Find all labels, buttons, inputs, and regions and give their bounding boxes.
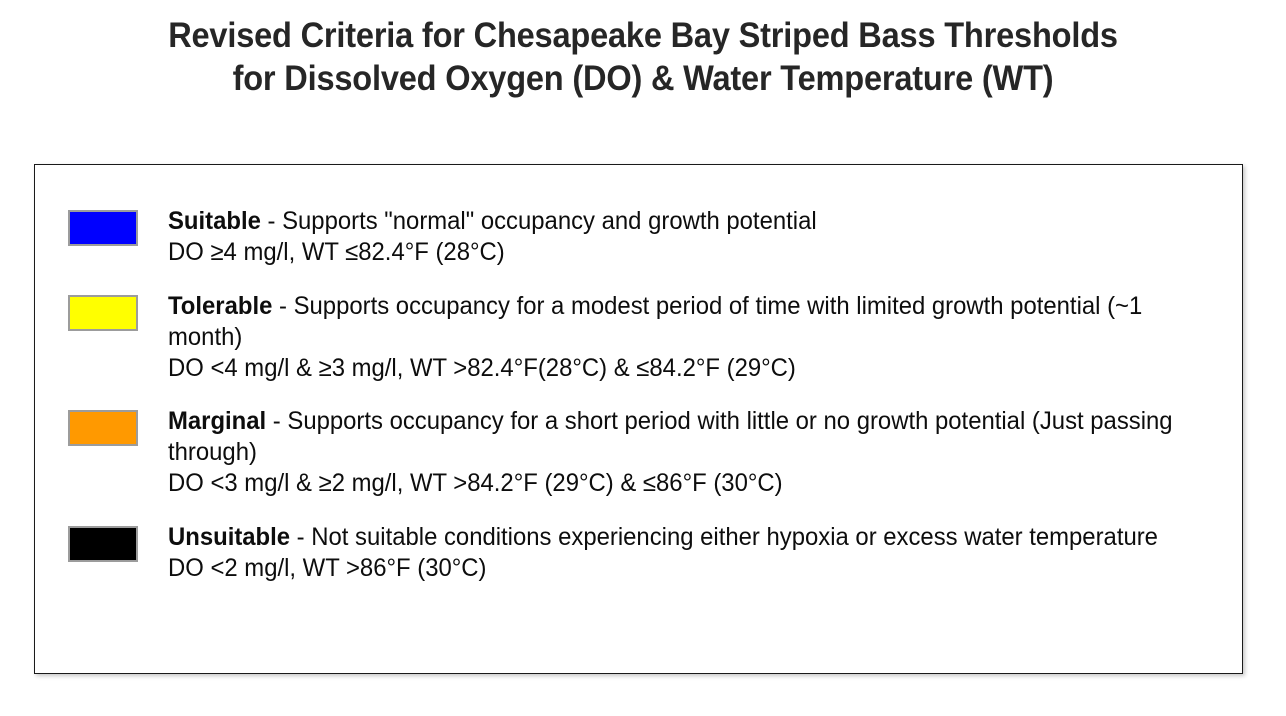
color-swatch-blue: [68, 210, 138, 246]
legend-item-name: Marginal: [168, 407, 266, 435]
legend-item-description-line: Marginal - Supports occupancy for a shor…: [168, 406, 1182, 468]
legend-item-text: Suitable - Supports "normal" occupancy a…: [168, 206, 1182, 268]
legend-item-separator: -: [290, 523, 311, 551]
legend-item-description: Supports occupancy for a modest period o…: [168, 292, 1142, 351]
legend-item-description-line: Tolerable - Supports occupancy for a mod…: [168, 291, 1182, 353]
legend-item-name: Tolerable: [168, 292, 272, 320]
legend-item-text: Marginal - Supports occupancy for a shor…: [168, 406, 1182, 499]
legend-item-description: Supports occupancy for a short period wi…: [168, 407, 1173, 466]
legend-item-separator: -: [261, 207, 282, 235]
legend-item-separator: -: [266, 407, 287, 435]
legend-item-description-line: Unsuitable - Not suitable conditions exp…: [168, 522, 1182, 553]
legend-panel: Suitable - Supports "normal" occupancy a…: [34, 164, 1243, 674]
page-title-line-2: for Dissolved Oxygen (DO) & Water Temper…: [67, 57, 1218, 100]
legend-item-values: DO <4 mg/l & ≥3 mg/l, WT >82.4°F(28°C) &…: [168, 353, 1182, 384]
legend-item-values: DO <2 mg/l, WT >86°F (30°C): [168, 553, 1182, 584]
legend-item-values: DO ≥4 mg/l, WT ≤82.4°F (28°C): [168, 237, 1182, 268]
page-title: Revised Criteria for Chesapeake Bay Stri…: [67, 14, 1218, 100]
legend-item-separator: -: [272, 292, 293, 320]
legend-item-text: Tolerable - Supports occupancy for a mod…: [168, 291, 1182, 384]
legend-item-description: Supports "normal" occupancy and growth p…: [282, 207, 817, 235]
legend-item-name: Suitable: [168, 207, 261, 235]
legend-item-description-line: Suitable - Supports "normal" occupancy a…: [168, 206, 1182, 237]
color-swatch-orange: [68, 410, 138, 446]
legend-list: Suitable - Supports "normal" occupancy a…: [35, 165, 1242, 673]
legend-item-values: DO <3 mg/l & ≥2 mg/l, WT >84.2°F (29°C) …: [168, 468, 1182, 499]
legend-item-text: Unsuitable - Not suitable conditions exp…: [168, 522, 1182, 584]
page-title-line-1: Revised Criteria for Chesapeake Bay Stri…: [67, 14, 1218, 57]
color-swatch-black: [68, 526, 138, 562]
color-swatch-yellow: [68, 295, 138, 331]
legend-item-description: Not suitable conditions experiencing eit…: [311, 523, 1158, 551]
legend-item-name: Unsuitable: [168, 523, 290, 551]
